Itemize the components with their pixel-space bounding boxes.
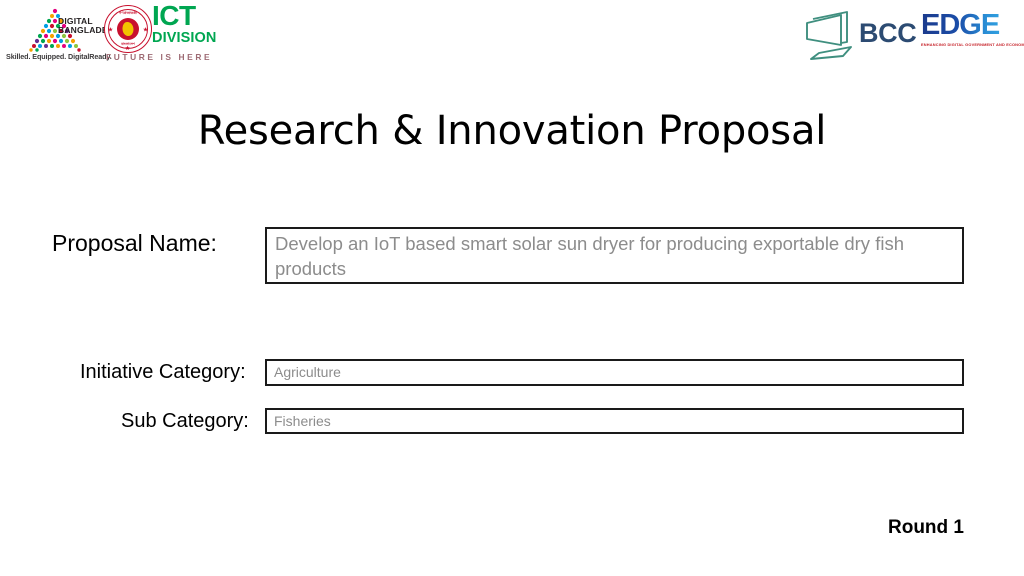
edge-logo: EDGE ENHANCING DIGITAL GOVERNMENT AND EC…: [921, 11, 1017, 59]
round-badge: Round 1: [888, 517, 964, 539]
page-title: Research & Innovation Proposal: [0, 108, 1024, 154]
sub-category-value[interactable]: Fisheries: [274, 413, 331, 429]
sub-category-label: Sub Category:: [121, 410, 249, 433]
ict-division-tagline: FUTURE IS HERE: [106, 52, 212, 62]
ict-division-logo: গণপ্রজাতন্ত্রী বাংলাদেশ ICT DIVISION FUT…: [100, 3, 212, 69]
ict-subtitle: DIVISION: [152, 31, 216, 46]
bcc-monitor-icon: [797, 9, 859, 61]
seal-top-text: গণপ্রজাতন্ত্রী: [105, 11, 151, 17]
bcc-logo: BCC: [797, 7, 909, 65]
bangladesh-government-seal-icon: গণপ্রজাতন্ত্রী বাংলাদেশ: [104, 5, 152, 53]
edge-tagline: ENHANCING DIGITAL GOVERNMENT AND ECONOMY: [921, 42, 1017, 47]
sub-category-input[interactable]: [265, 408, 964, 434]
proposal-name-label: Proposal Name:: [52, 230, 217, 257]
bcc-label: BCC: [859, 18, 916, 49]
header-logo-band: DIGITAL BANGLADESH Skilled. Equipped. Di…: [0, 0, 1024, 72]
ict-title: ICT: [152, 3, 216, 30]
initiative-category-value[interactable]: Agriculture: [274, 364, 341, 380]
initiative-category-label: Initiative Category:: [80, 361, 246, 384]
edge-label: EDGE: [921, 11, 1017, 40]
initiative-category-input[interactable]: [265, 359, 964, 386]
proposal-name-value[interactable]: Develop an IoT based smart solar sun dry…: [275, 231, 950, 281]
digital-bangladesh-tagline: Skilled. Equipped. DigitalReady.: [6, 52, 112, 61]
digital-bangladesh-logo: DIGITAL BANGLADESH Skilled. Equipped. Di…: [6, 6, 102, 68]
ict-division-wordmark: ICT DIVISION: [152, 3, 216, 45]
seal-bottom-text: বাংলাদেশ: [105, 42, 151, 48]
